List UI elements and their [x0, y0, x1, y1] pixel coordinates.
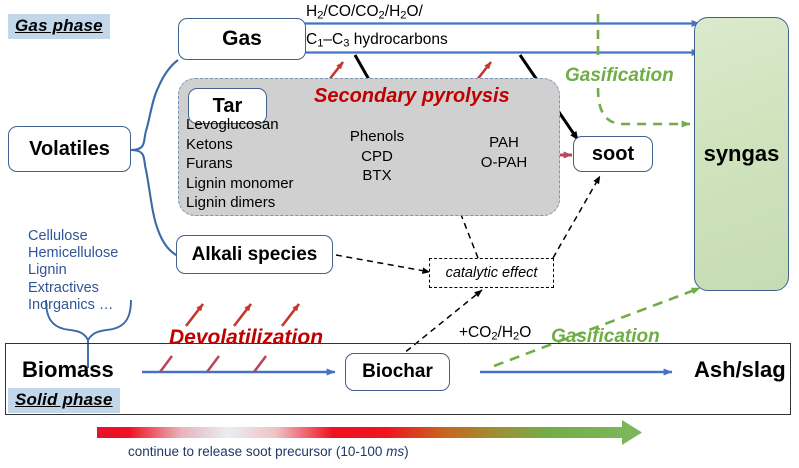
gas-species-line-2: C1–C3 hydrocarbons — [306, 31, 448, 49]
solid-phase-label: Solid phase — [8, 388, 120, 413]
biomass-component-0: Cellulose — [28, 228, 118, 245]
tar-components-list: Levoglucosan Ketons Furans Lignin monome… — [186, 115, 294, 213]
co2-h2o-p0: +CO — [459, 324, 491, 341]
gas-species-line-1-p4: /H — [385, 3, 401, 20]
pah-product-0: PAH — [475, 133, 533, 153]
node-ash-slag: Ash/slag — [694, 357, 786, 383]
gas-species-line-1: H2/CO/CO2/H2O/ — [306, 3, 423, 21]
pah-products-list: PAH O-PAH — [475, 133, 533, 173]
node-catalytic-effect[interactable]: catalytic effect — [429, 258, 554, 288]
label-gasification-top: Gasification — [565, 65, 674, 87]
timeline-caption-prefix: continue to release soot precursor (10-1… — [128, 444, 386, 459]
intermediate-1: CPD — [343, 147, 411, 167]
node-alkali-species[interactable]: Alkali species — [176, 235, 333, 274]
node-biomass: Biomass — [22, 357, 114, 383]
tar-component-4: Lignin dimers — [186, 193, 294, 213]
biomass-component-1: Hemicellulose — [28, 245, 118, 262]
timeline-caption: continue to release soot precursor (10-1… — [128, 444, 409, 459]
label-gasification-bottom: Gasification — [551, 326, 660, 348]
dashed-catalytic-to-soot — [553, 176, 600, 258]
timeline-caption-unit: ms — [386, 444, 404, 459]
label-secondary-pyrolysis: Secondary pyrolysis — [314, 85, 510, 108]
node-biochar[interactable]: Biochar — [345, 353, 450, 391]
tar-component-3: Lignin monomer — [186, 174, 294, 194]
intermediate-0: Phenols — [343, 127, 411, 147]
biomass-component-2: Lignin — [28, 262, 118, 279]
biomass-components-list: Cellulose Hemicellulose Lignin Extractiv… — [28, 228, 118, 314]
intermediate-2: BTX — [343, 166, 411, 186]
gas-species-line-2-p4: hydrocarbons — [349, 31, 447, 48]
tar-component-0: Levoglucosan — [186, 115, 294, 135]
dashed-alkali-to-catalytic — [336, 255, 430, 272]
gas-species-line-2-p0: C — [306, 31, 317, 48]
node-syngas[interactable]: syngas — [694, 17, 789, 291]
gas-species-line-1-p2: /CO/CO — [323, 3, 378, 20]
gas-species-line-1-p6: O/ — [406, 3, 422, 20]
volatiles-bracket — [131, 60, 178, 256]
co2-h2o-p2: /H — [498, 324, 514, 341]
diagram-canvas: Gas phase Solid phase Volatiles Gas Tar … — [0, 0, 799, 468]
node-soot[interactable]: soot — [573, 136, 653, 172]
devolatilization-up-arrows — [186, 304, 299, 326]
gas-phase-label: Gas phase — [8, 14, 110, 39]
timeline-caption-suffix: ) — [404, 444, 409, 459]
label-devolatilization: Devolatilization — [169, 326, 323, 350]
intermediates-list: Phenols CPD BTX — [343, 127, 411, 186]
biomass-component-4: Inorganics … — [28, 297, 118, 314]
biomass-component-3: Extractives — [28, 280, 118, 297]
node-gas[interactable]: Gas — [178, 18, 306, 60]
label-co2-h2o: +CO2/H2O — [459, 324, 531, 342]
pah-product-1: O-PAH — [475, 153, 533, 173]
node-volatiles[interactable]: Volatiles — [8, 126, 131, 172]
gas-species-line-2-p2: –C — [323, 31, 343, 48]
co2-h2o-p4: O — [519, 324, 531, 341]
tar-component-2: Furans — [186, 154, 294, 174]
gas-species-line-1-p0: H — [306, 3, 317, 20]
tar-component-1: Ketons — [186, 135, 294, 155]
timeline-arrow — [97, 420, 642, 445]
